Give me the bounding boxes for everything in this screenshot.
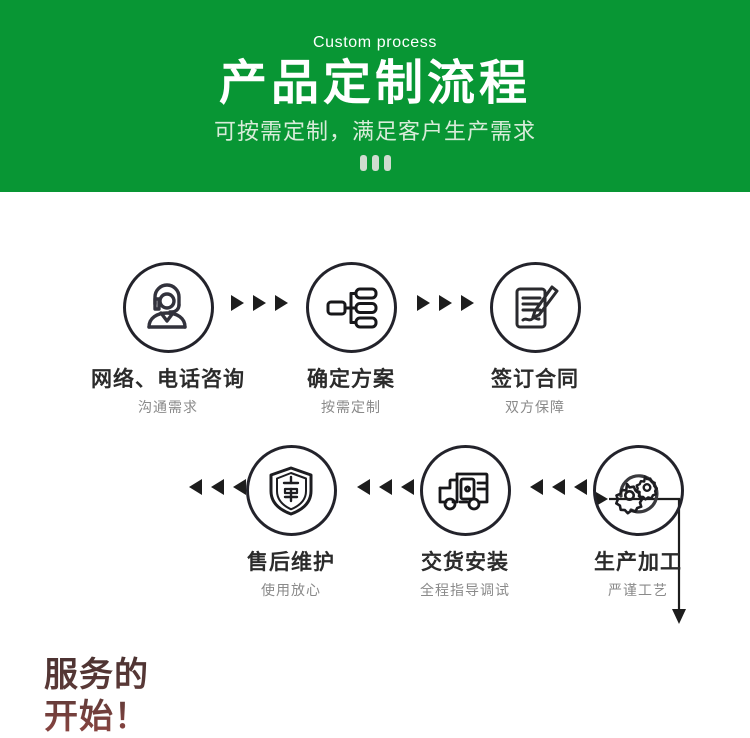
right-arrow-icon: [417, 295, 430, 311]
service-start-callout: 服务的 开始！: [44, 654, 194, 738]
right-arrow-icon: [231, 295, 244, 311]
step-title: 网络、电话咨询: [88, 367, 248, 393]
page-title: 产品定制流程: [0, 55, 750, 113]
step-subtitle: 使用放心: [211, 581, 371, 599]
header-banner: Custom process 产品定制流程 可按需定制，满足客户生产需求: [0, 0, 750, 192]
step-production-processing[interactable]: 生产加工 严谨工艺: [558, 445, 718, 599]
process-flow-diagram: 网络、电话咨询 沟通需求 确定方案 按需定制: [0, 192, 750, 634]
gears-production-icon: [593, 445, 684, 536]
right-arrow-icon: [253, 295, 266, 311]
left-arrow-icon: [189, 479, 202, 495]
shield-after-sales-icon: [246, 445, 337, 536]
right-arrow-icon: [439, 295, 452, 311]
step-title: 确定方案: [271, 367, 431, 393]
dot-bar-icon: [372, 155, 379, 171]
step-delivery-installation[interactable]: 交货安装 全程指导调试: [385, 445, 545, 599]
step-title: 售后维护: [211, 550, 371, 576]
step-confirm-plan[interactable]: 确定方案 按需定制: [271, 262, 431, 416]
step-sign-contract[interactable]: 签订合同 双方保障: [455, 262, 615, 416]
dot-bar-icon: [360, 155, 367, 171]
dot-bar-icon: [384, 155, 391, 171]
callout-line-1: 服务的: [44, 654, 194, 696]
step-title: 生产加工: [558, 550, 718, 576]
org-chart-icon: [306, 262, 397, 353]
step-after-sales-maintenance[interactable]: 售后维护 使用放心: [211, 445, 371, 599]
step-subtitle: 按需定制: [271, 398, 431, 416]
step-title: 签订合同: [455, 367, 615, 393]
left-arrow-icon: [530, 479, 543, 495]
step-subtitle: 全程指导调试: [385, 581, 545, 599]
header-subtitle: 可按需定制，满足客户生产需求: [0, 118, 750, 146]
headset-person-icon: [123, 262, 214, 353]
step-network-phone-consult[interactable]: 网络、电话咨询 沟通需求: [88, 262, 248, 416]
contract-pen-icon: [490, 262, 581, 353]
delivery-truck-icon: [420, 445, 511, 536]
header-dots-decoration: [0, 155, 750, 171]
step-subtitle: 沟通需求: [88, 398, 248, 416]
step-subtitle: 严谨工艺: [558, 581, 718, 599]
step-subtitle: 双方保障: [455, 398, 615, 416]
left-arrow-icon: [357, 479, 370, 495]
header-eyebrow: Custom process: [0, 33, 750, 53]
callout-line-2: 开始！: [44, 696, 194, 738]
step-title: 交货安装: [385, 550, 545, 576]
